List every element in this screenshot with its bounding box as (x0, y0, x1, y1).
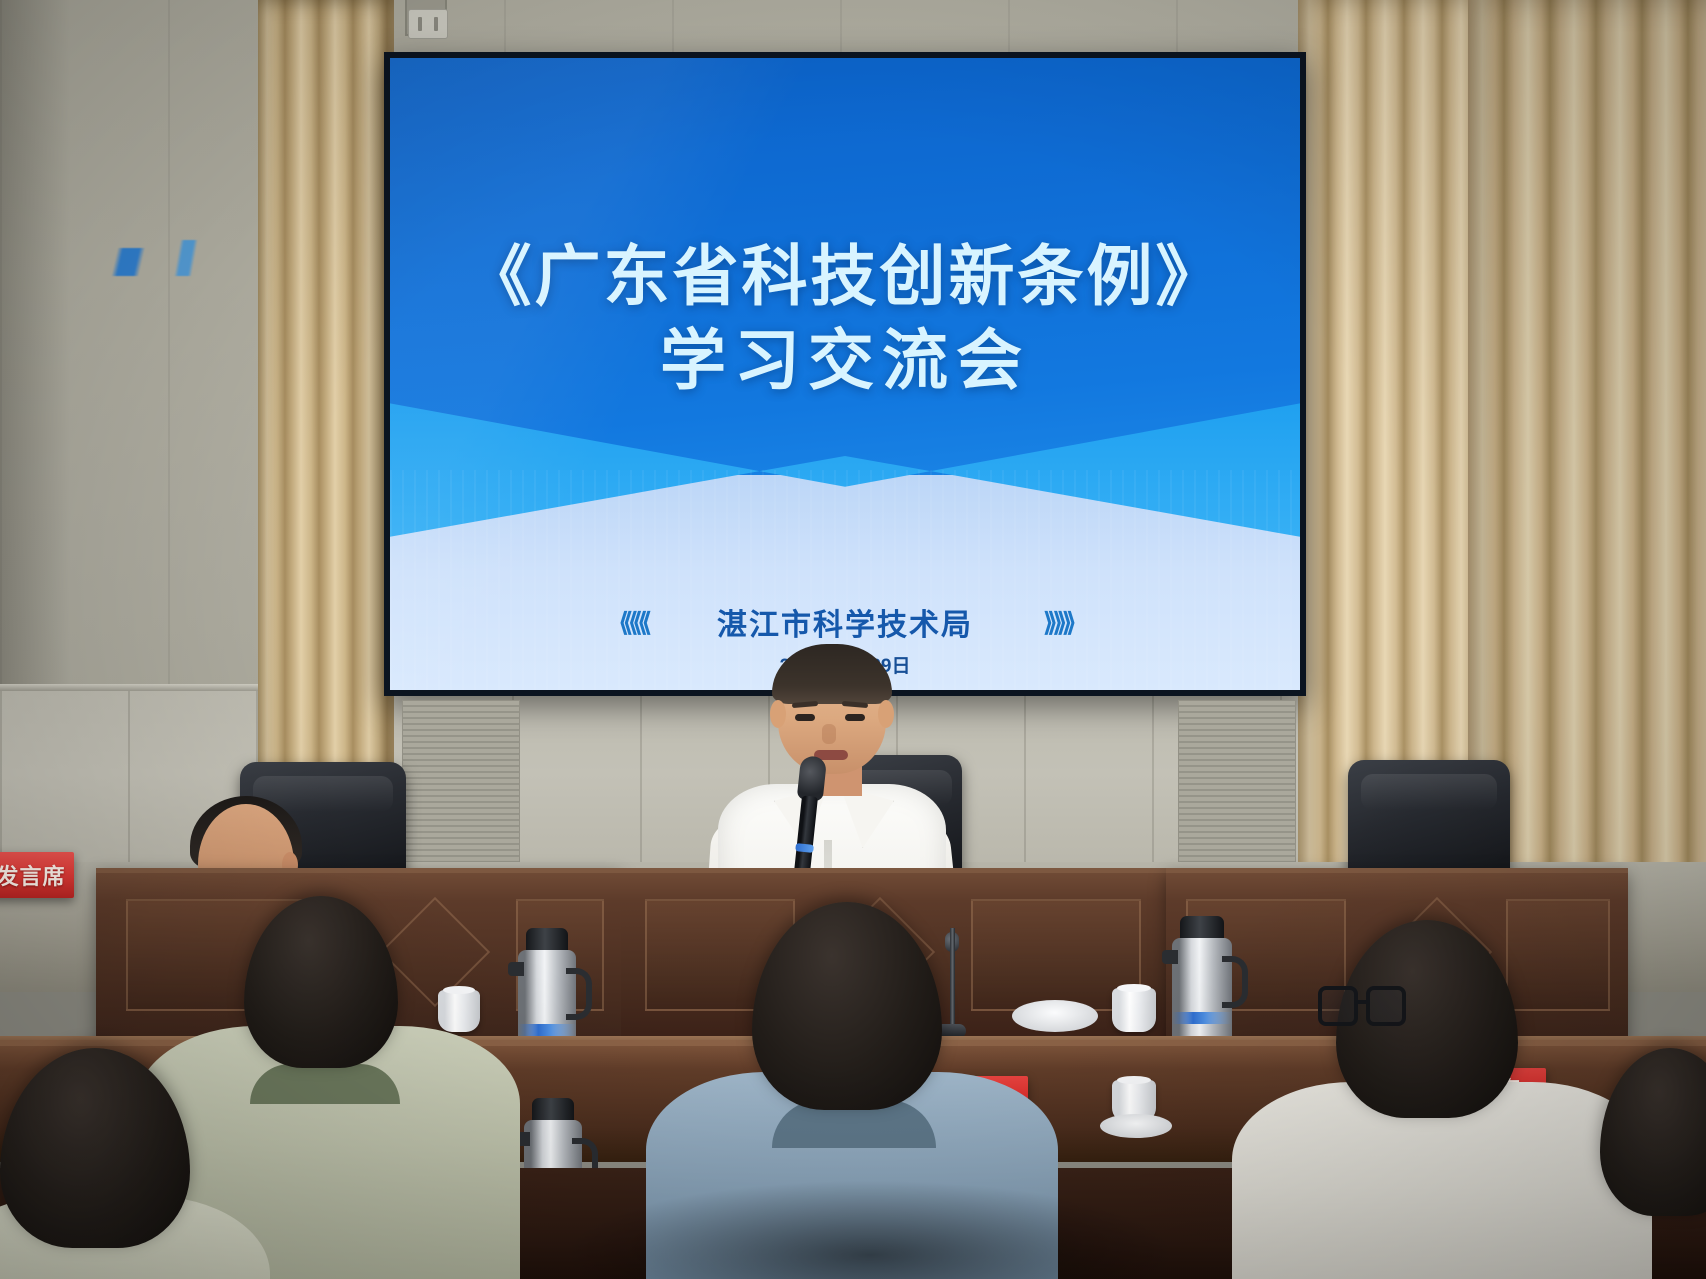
microphone-stem (950, 928, 955, 1028)
saucer-second-row (1100, 1114, 1172, 1138)
eyeglasses-icon (1318, 986, 1410, 1030)
slide-title-line-1: 《广东省科技创新条例》 (390, 236, 1300, 320)
speaker-ear-right (878, 700, 894, 728)
slide-footer: ⟪⟪⟪ 湛江市科学技术局 ⟫⟫⟫ (390, 600, 1300, 644)
slide-organization-name: 湛江市科学技术局 (717, 600, 973, 644)
microphone-head (797, 755, 827, 801)
speaker-nose (822, 724, 836, 744)
thermos-handle (566, 968, 592, 1020)
slide-title-line-2: 学习交流会 (390, 320, 1300, 404)
eyeglass-lens-right (1366, 986, 1406, 1026)
porcelain-cup-left[interactable] (438, 990, 480, 1032)
microphone-indicator (795, 843, 814, 853)
led-display-bezel: 《广东省科技创新条例》 学习交流会 ⟪⟪⟪ 湛江市科学技术局 ⟫⟫⟫ 2025年… (384, 52, 1306, 696)
thermos-label-band (1172, 1012, 1232, 1024)
wall-power-outlet-icon (408, 9, 448, 39)
led-display-panel[interactable]: 《广东省科技创新条例》 学习交流会 ⟪⟪⟪ 湛江市科学技术局 ⟫⟫⟫ 2025年… (390, 58, 1300, 690)
conference-room-photo: 《广东省科技创新条例》 学习交流会 ⟪⟪⟪ 湛江市科学技术局 ⟫⟫⟫ 2025年… (0, 0, 1706, 1279)
chevron-left-icon: ⟪⟪⟪ (619, 609, 647, 635)
speaker-eye-left (795, 714, 815, 721)
chevron-right-icon: ⟫⟫⟫ (1043, 609, 1071, 635)
executive-chair-right[interactable] (1348, 760, 1510, 878)
wall-speaker-grille-right (1178, 700, 1296, 876)
thermos-spout (1162, 950, 1178, 964)
eyeglass-lens-left (1318, 986, 1358, 1026)
porcelain-cup-right[interactable] (1112, 988, 1156, 1032)
saucer-center (1012, 1000, 1098, 1032)
speaker-eye-right (845, 714, 865, 721)
placard-speaker-seat: 发言席 (0, 852, 74, 898)
thermos-handle (1222, 956, 1248, 1008)
speaker-hair (772, 644, 892, 704)
speaker-ear-left (770, 700, 786, 728)
blue-cable-line-secondary (90, 240, 280, 276)
table-front-panel (1506, 899, 1610, 1011)
attendee-foreground-left-collar (250, 1064, 400, 1104)
thermos-label-band (518, 1024, 576, 1036)
slide-title: 《广东省科技创新条例》 学习交流会 (390, 236, 1300, 405)
thermos-spout (508, 962, 524, 976)
wall-speaker-grille-left (402, 700, 520, 876)
presentation-slide: 《广东省科技创新条例》 学习交流会 ⟪⟪⟪ 湛江市科学技术局 ⟫⟫⟫ 2025年… (390, 58, 1300, 690)
